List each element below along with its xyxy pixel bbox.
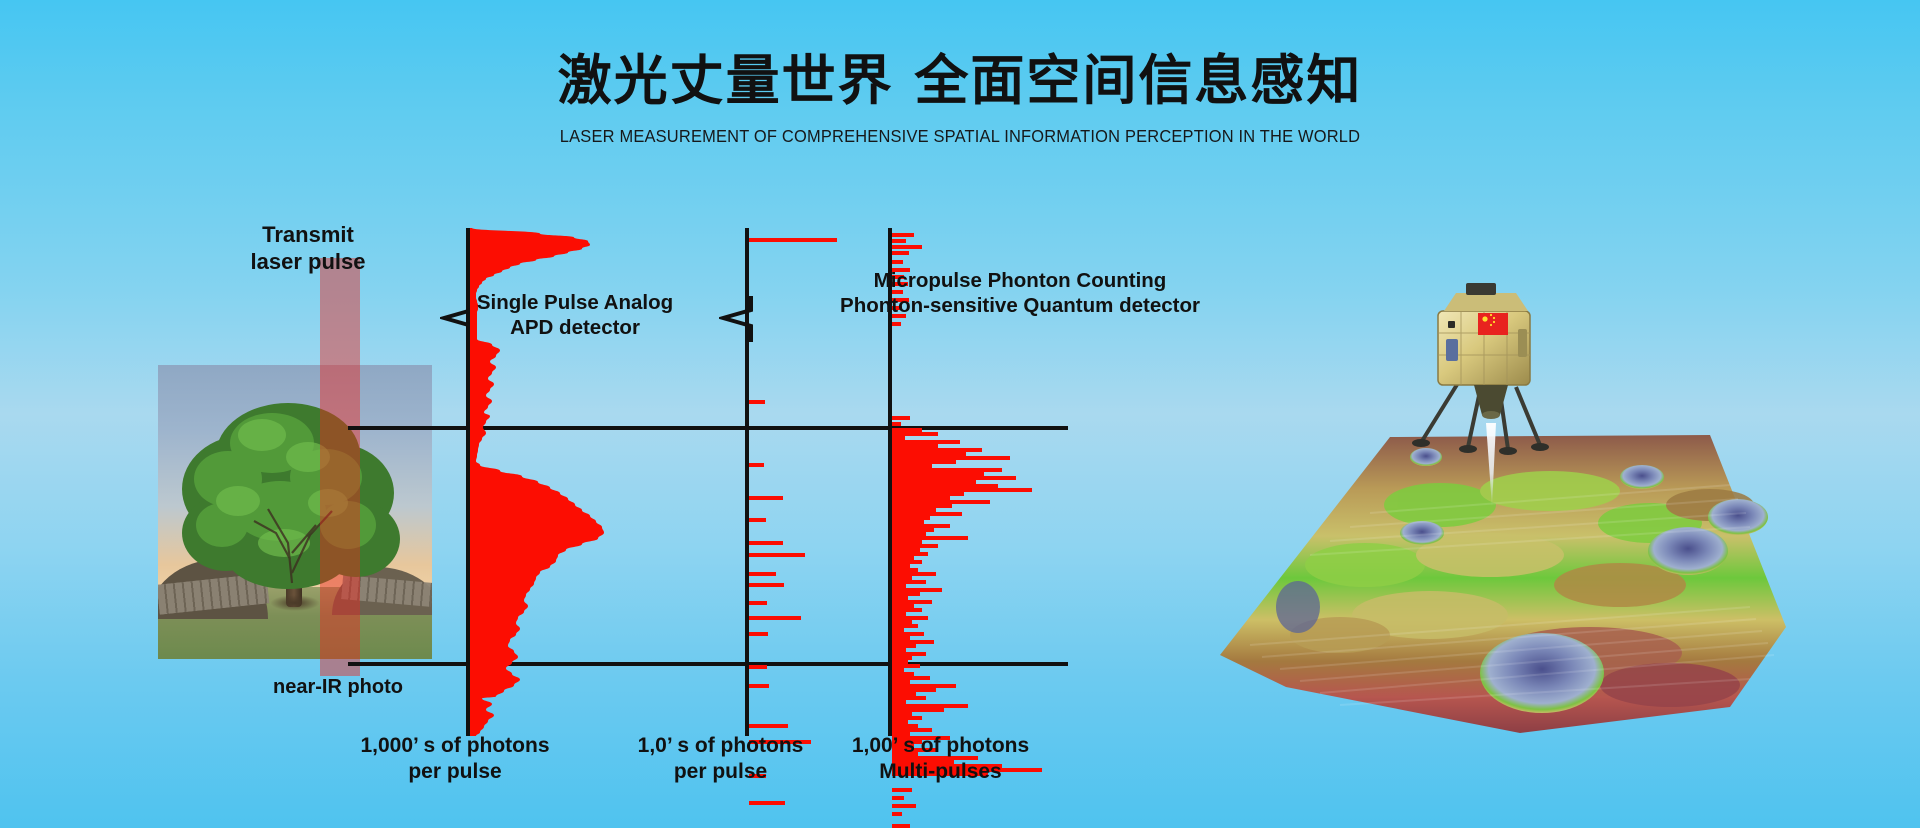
label-transmit-laser-pulse: Transmit laser pulse — [228, 222, 388, 276]
lander-instrument-right — [1518, 329, 1527, 357]
terrain-svg — [1190, 255, 1810, 735]
photon-return-bar — [749, 238, 837, 242]
lunar-lander — [1412, 283, 1549, 455]
photon-return-bar — [749, 665, 767, 669]
caption-photons-multi-pulses: 1,00’ s of photons Multi-pulses — [828, 733, 1053, 786]
lander-instrument-left — [1446, 339, 1458, 361]
photon-return-bar — [749, 572, 776, 576]
photon-return-bar — [892, 245, 922, 249]
photon-return-bar — [892, 260, 903, 264]
photon-return-bar — [749, 724, 788, 728]
photon-return-bar — [892, 416, 910, 420]
lander-top-deck — [1444, 293, 1528, 311]
transmit-laser-beam — [320, 258, 360, 676]
tree-canopy-icon — [176, 393, 408, 598]
photon-return-bar — [749, 632, 768, 636]
crater-edge — [1276, 581, 1320, 633]
photon-return-bar — [749, 601, 767, 605]
lander-port — [1448, 321, 1455, 328]
photon-return-bar — [892, 788, 912, 792]
photon-return-bar — [749, 496, 783, 500]
photon-return-bar — [749, 463, 764, 467]
photon-return-bar — [749, 583, 784, 587]
crater-small-1 — [1620, 465, 1664, 489]
label-quantum-detector: Micropulse Phonton Counting Phonton-sens… — [800, 268, 1240, 318]
photon-return-bar — [892, 812, 902, 816]
photon-return-bar — [892, 804, 916, 808]
lunar-lander-terrain-scene — [1190, 255, 1810, 735]
photon-return-bar — [749, 684, 769, 688]
photon-return-bar — [892, 824, 910, 828]
photon-return-bar — [749, 553, 805, 557]
lidar-waveform-diagram: Transmit laser pulse Single Pulse Analog… — [0, 0, 1180, 828]
china-flag-icon — [1478, 313, 1508, 335]
photon-return-bar — [749, 616, 801, 620]
photon-return-bar — [749, 801, 785, 805]
label-near-ir-photo: near-IR photo — [238, 675, 438, 699]
photon-return-bar — [892, 796, 904, 800]
crater-medium-1 — [1648, 527, 1728, 575]
caption-photons-per-pulse-low: 1,0’ s of photons per pulse — [618, 733, 823, 786]
photon-return-bar — [749, 400, 765, 404]
lander-antenna-box — [1466, 283, 1496, 295]
caption-photons-per-pulse-high: 1,000’ s of photons per pulse — [350, 733, 560, 786]
photon-return-bar — [749, 518, 766, 522]
photon-return-bar — [892, 251, 909, 255]
terrain-surface — [1220, 435, 1786, 733]
photon-return-bar — [892, 422, 901, 426]
poster-canvas: 激光丈量世界 全面空间信息感知 LASER MEASUREMENT OF COM… — [0, 0, 1920, 828]
photon-return-bar — [749, 541, 783, 545]
label-apd-detector: Single Pulse Analog APD detector — [430, 290, 720, 340]
photon-return-bar — [892, 239, 906, 243]
photon-return-bar — [892, 322, 901, 326]
crater-small-3 — [1410, 448, 1442, 466]
near-ir-tree-photo — [158, 365, 432, 659]
photon-return-bar — [892, 233, 914, 237]
